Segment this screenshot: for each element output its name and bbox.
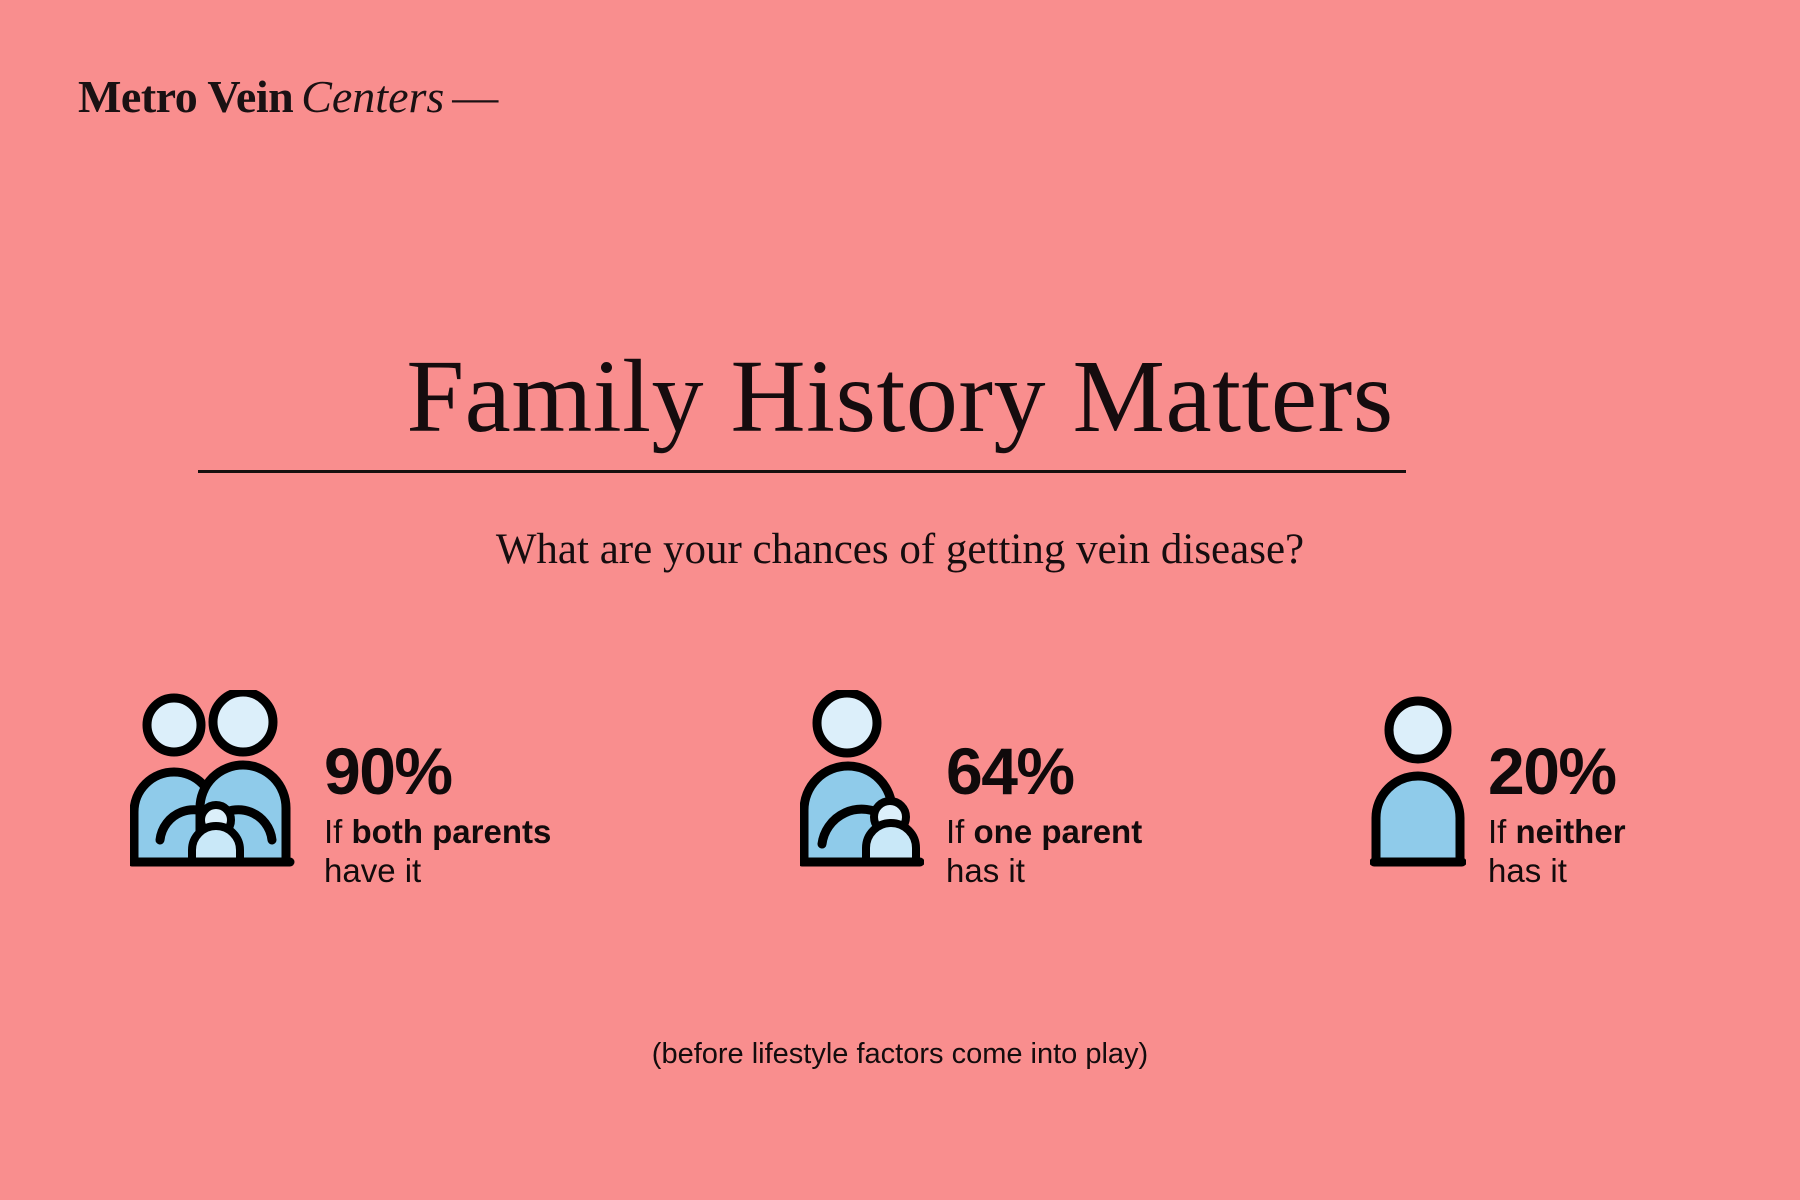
page-subtitle: What are your chances of getting vein di…	[0, 525, 1800, 574]
caption-emphasis: both parents	[352, 813, 552, 850]
page-title: Family History Matters	[0, 342, 1800, 451]
stat-text-one-parent: 64% If one parent has it	[946, 690, 1142, 891]
caption-emphasis: one parent	[974, 813, 1143, 850]
single-person-icon	[1370, 690, 1466, 870]
stat-caption-line2-one-parent: has it	[946, 852, 1142, 891]
stat-text-neither: 20% If neither has it	[1488, 690, 1626, 891]
two-parents-with-child-icon	[130, 690, 302, 870]
stat-group-one-parent: 64% If one parent has it	[800, 690, 1142, 900]
title-divider	[198, 470, 1406, 473]
stat-caption-line1-neither: If neither	[1488, 813, 1626, 852]
brand-dash: —	[452, 71, 498, 122]
stat-percent-one-parent: 64%	[946, 740, 1142, 803]
brand-logo: Metro VeinCenters—	[78, 74, 498, 120]
stat-caption-line2-neither: has it	[1488, 852, 1626, 891]
stat-caption-line1-both-parents: If both parents	[324, 813, 551, 852]
stat-percent-neither: 20%	[1488, 740, 1626, 803]
caption-emphasis: neither	[1516, 813, 1626, 850]
stat-text-both-parents: 90% If both parents have it	[324, 690, 551, 891]
infographic-poster: Metro VeinCenters— Family History Matter…	[0, 0, 1800, 1200]
stat-caption-line1-one-parent: If one parent	[946, 813, 1142, 852]
caption-prefix: If	[324, 813, 352, 850]
footnote-text: (before lifestyle factors come into play…	[0, 1038, 1800, 1071]
caption-prefix: If	[1488, 813, 1516, 850]
caption-prefix: If	[946, 813, 974, 850]
stat-group-both-parents: 90% If both parents have it	[130, 690, 551, 900]
stats-row: 90% If both parents have it	[0, 690, 1800, 910]
stat-group-neither: 20% If neither has it	[1370, 690, 1626, 900]
stat-percent-both-parents: 90%	[324, 740, 551, 803]
brand-name-secondary: Centers	[301, 71, 444, 122]
brand-name-primary: Metro Vein	[78, 71, 293, 122]
one-parent-with-child-icon	[800, 690, 924, 870]
stat-caption-line2-both-parents: have it	[324, 852, 551, 891]
